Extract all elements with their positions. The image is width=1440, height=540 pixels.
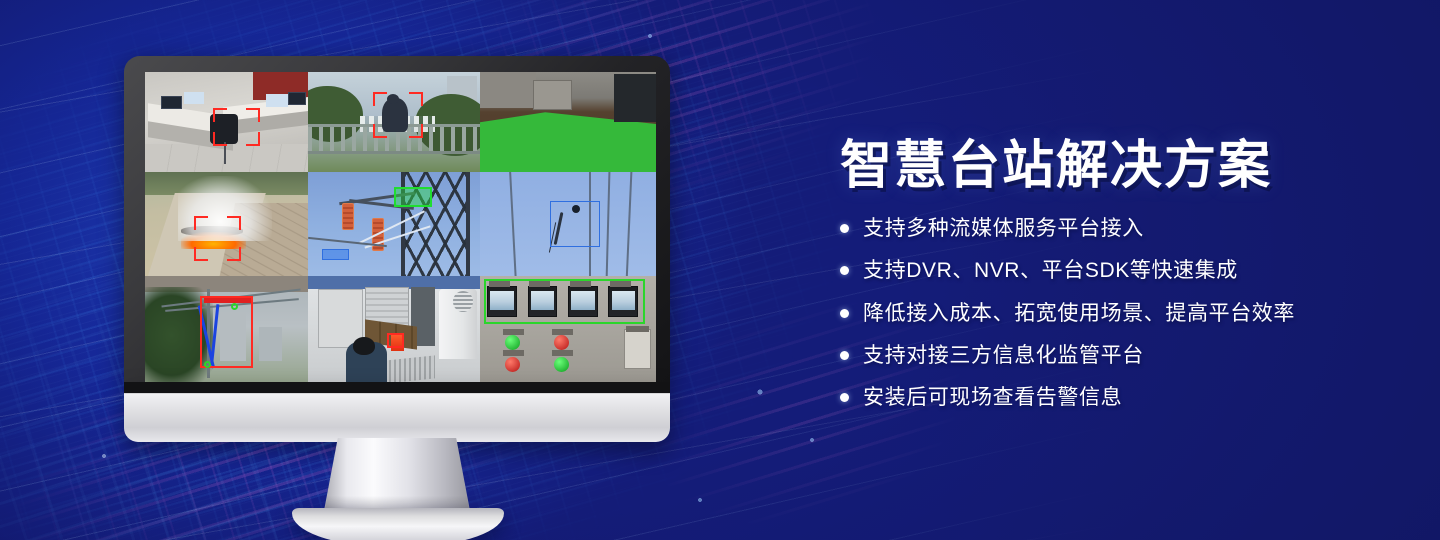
list-item: 支持DVR、NVR、平台SDK等快速集成: [840, 258, 1400, 283]
detection-bracket-tr: [246, 108, 260, 122]
power-line-4: [508, 172, 517, 276]
detection-bracket-bl: [373, 124, 387, 138]
anchor-point-top: [231, 303, 238, 310]
button-label-2: [552, 329, 573, 335]
detection-bracket-tl: [373, 92, 387, 106]
dark-structure: [614, 74, 656, 122]
bullet-dot-icon: [840, 309, 849, 318]
wall-unit-label: [626, 326, 649, 332]
anchor-point-bottom: [204, 361, 211, 368]
bullet-dot-icon: [840, 266, 849, 275]
monitor-screen: [145, 72, 656, 382]
worker-head: [353, 337, 375, 355]
smoke-plume: [178, 176, 273, 240]
video-cell-utility-pole[interactable]: [145, 276, 308, 382]
solution-hero-banner: 智慧台站解决方案 支持多种流媒体服务平台接入 支持DVR、NVR、平台SDK等快…: [0, 0, 1440, 540]
list-item: 安装后可现场查看告警信息: [840, 385, 1400, 410]
monitor-stand-base: [292, 508, 504, 540]
detection-bracket-bl: [194, 247, 208, 261]
detection-bracket-br: [246, 132, 260, 146]
distant-building-2: [259, 327, 282, 361]
monitor-illustration: [124, 56, 670, 492]
indicator-green-1[interactable]: [505, 335, 520, 350]
desk-monitor-2: [184, 92, 204, 104]
detection-box-red: [200, 296, 252, 368]
bullet-dot-icon: [840, 224, 849, 233]
detection-bracket-tr: [227, 216, 241, 230]
ac-vent: [453, 291, 474, 312]
video-cell-fire-smoke[interactable]: [145, 172, 308, 276]
power-line-3: [625, 172, 633, 276]
insulator-string-1: [342, 203, 354, 230]
list-item: 支持对接三方信息化监管平台: [840, 343, 1400, 368]
indicator-red-2[interactable]: [505, 357, 520, 372]
desk-monitor-3: [266, 94, 289, 107]
monitor-bezel: [124, 56, 670, 382]
detection-bracket-tl: [194, 216, 208, 230]
video-cell-perimeter-fence[interactable]: [308, 72, 480, 172]
detection-bracket-br: [227, 247, 241, 261]
video-cell-station-yard[interactable]: [480, 72, 656, 172]
video-wall-grid: [145, 72, 656, 382]
indicator-red-1[interactable]: [554, 335, 569, 350]
video-cell-equipment-room[interactable]: [308, 276, 480, 382]
feature-text: 安装后可现场查看告警信息: [863, 385, 1122, 410]
feature-text: 降低接入成本、拓宽使用场景、提高平台效率: [863, 301, 1295, 326]
equipment-cabinet: [533, 80, 572, 110]
video-cell-power-lines[interactable]: [480, 172, 656, 276]
bullet-dot-icon: [840, 393, 849, 402]
detection-bracket-tl: [213, 108, 227, 122]
hero-copy: 智慧台站解决方案 支持多种流媒体服务平台接入 支持DVR、NVR、平台SDK等快…: [840, 138, 1400, 427]
feature-text: 支持多种流媒体服务平台接入: [863, 216, 1144, 241]
detection-box-blue: [322, 249, 350, 260]
page-title: 智慧台站解决方案: [840, 138, 1400, 194]
button-label-3: [503, 350, 524, 356]
indicator-green-2[interactable]: [554, 357, 569, 372]
bullet-dot-icon: [840, 351, 849, 360]
list-item: 支持多种流媒体服务平台接入: [840, 216, 1400, 241]
feature-list: 支持多种流媒体服务平台接入 支持DVR、NVR、平台SDK等快速集成 降低接入成…: [840, 216, 1400, 410]
detection-bracket-br: [409, 124, 423, 138]
list-item: 降低接入成本、拓宽使用场景、提高平台效率: [840, 301, 1400, 326]
desk-monitor-4: [288, 92, 306, 105]
feature-text: 支持DVR、NVR、平台SDK等快速集成: [863, 258, 1238, 283]
video-cell-control-panel[interactable]: [480, 276, 656, 382]
detection-bracket-tr: [409, 92, 423, 106]
detection-box-blue: [550, 201, 599, 247]
yard-wall: [480, 72, 536, 108]
video-cell-transmission-tower[interactable]: [308, 172, 480, 276]
button-label-4: [552, 350, 573, 356]
wall-mounted-unit: [624, 329, 650, 369]
desk-monitor-1: [161, 96, 182, 109]
feature-text: 支持对接三方信息化监管平台: [863, 343, 1144, 368]
detection-box-green: [394, 187, 432, 208]
detection-box-green: [484, 279, 646, 324]
detection-bracket-bl: [213, 132, 227, 146]
detection-box-red: [387, 333, 404, 348]
power-line-2: [605, 172, 610, 276]
video-cell-control-room[interactable]: [145, 72, 308, 172]
button-label-1: [503, 329, 524, 335]
monitor-chin: [124, 382, 670, 442]
